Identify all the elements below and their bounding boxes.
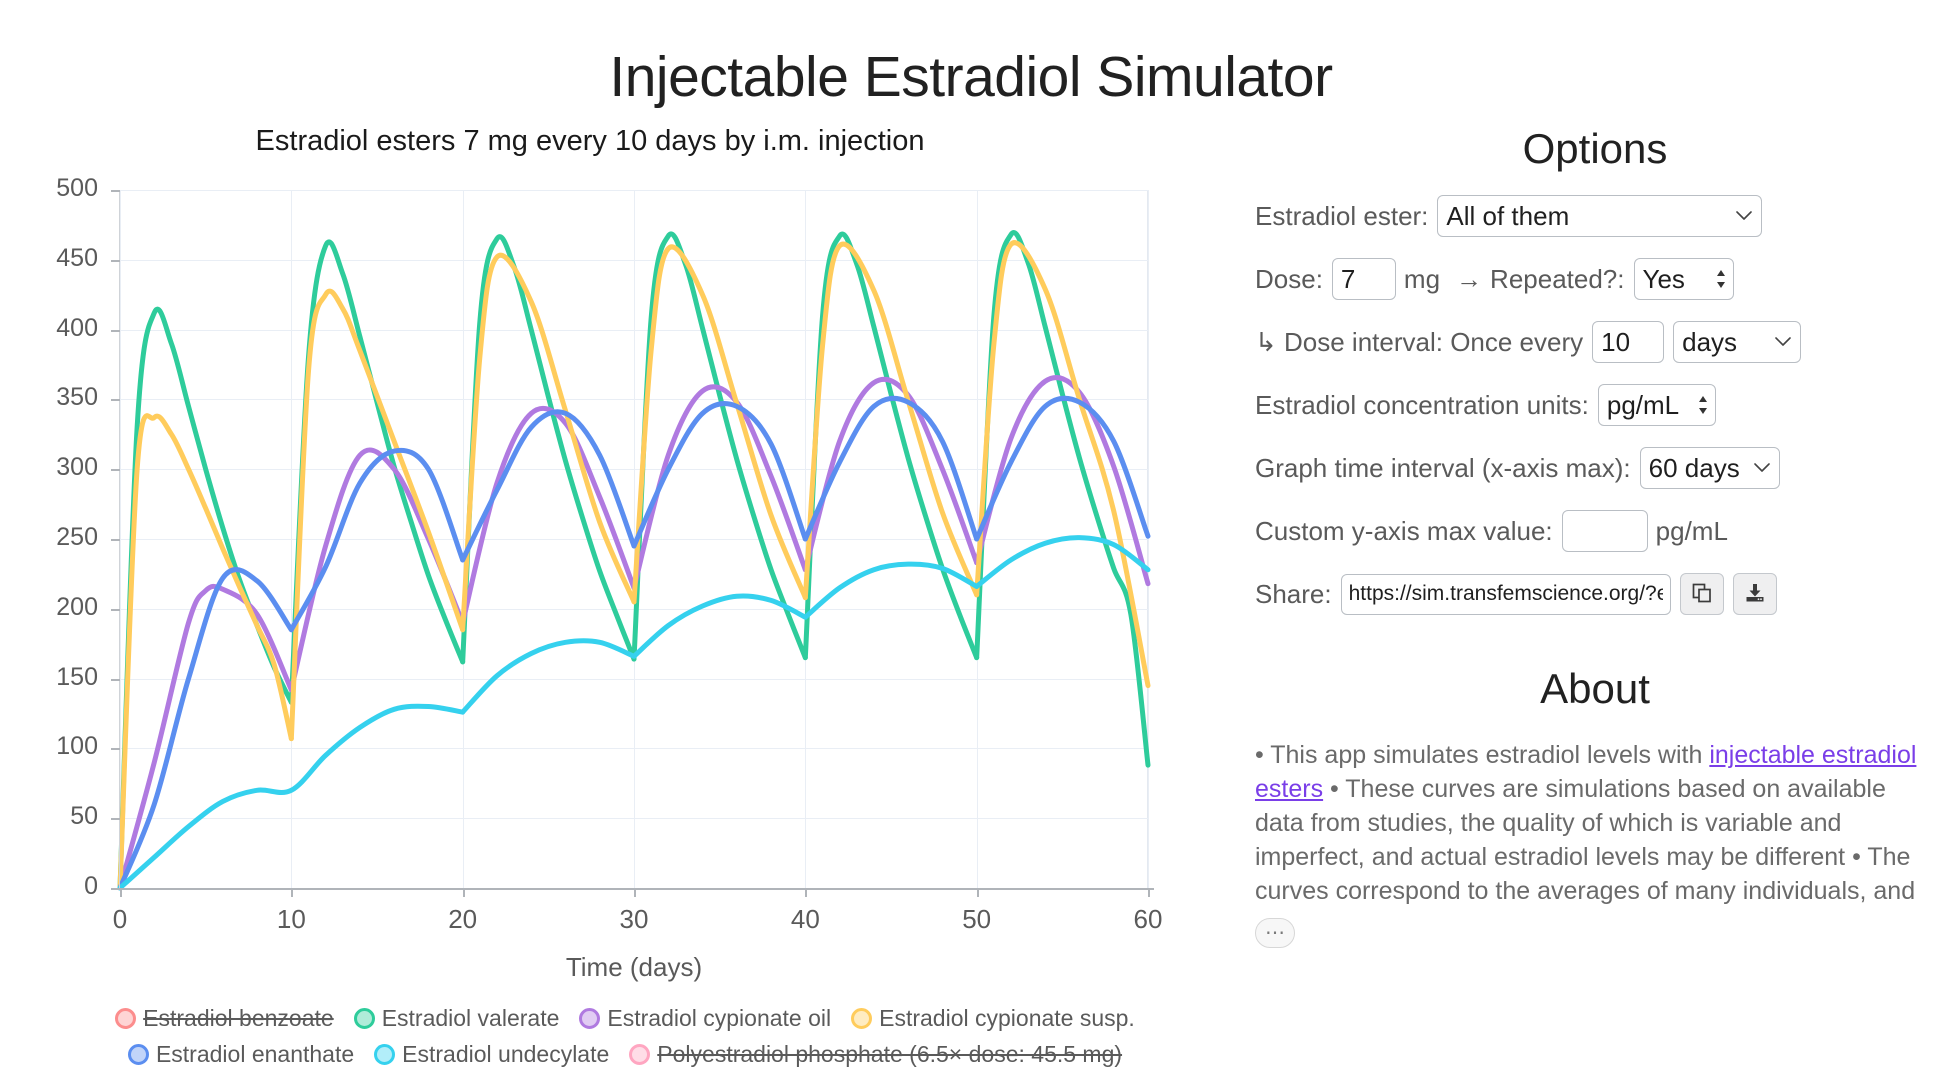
show-more-button[interactable]: ⋯ xyxy=(1255,918,1295,948)
share-label: Share: xyxy=(1255,579,1332,610)
curve-segment xyxy=(120,586,291,888)
legend-marker-icon xyxy=(629,1044,650,1065)
chart-curves xyxy=(120,190,1148,888)
ester-label: Estradiol ester: xyxy=(1255,201,1428,232)
option-row-units: Estradiol concentration units: pg/mL xyxy=(1255,384,1935,426)
y-tick-label: 350 xyxy=(0,383,98,412)
x-axis-title: Time (days) xyxy=(120,952,1148,983)
legend-marker-icon xyxy=(115,1008,136,1029)
plot-area xyxy=(120,190,1148,888)
download-icon xyxy=(1744,582,1766,607)
about-heading: About xyxy=(1255,665,1935,713)
curve-segment xyxy=(463,641,634,712)
legend-item[interactable]: Estradiol cypionate susp. xyxy=(851,1005,1135,1032)
legend-label: Polyestradiol phosphate (6.5× dose: 45.5… xyxy=(657,1041,1122,1068)
dose-interval-label: ↳ Dose interval: Once every xyxy=(1255,327,1583,358)
y-tick-label: 150 xyxy=(0,663,98,692)
custom-ymax-unit-label: pg/mL xyxy=(1656,516,1728,547)
y-tick-label: 100 xyxy=(0,732,98,761)
y-tick-label: 50 xyxy=(0,802,98,831)
legend-item[interactable]: Estradiol undecylate xyxy=(374,1041,609,1068)
y-tick-mark xyxy=(111,469,120,471)
custom-ymax-input[interactable] xyxy=(1562,510,1648,552)
repeated-label: Repeated?: xyxy=(1490,264,1624,295)
legend-label: Estradiol cypionate oil xyxy=(607,1005,831,1032)
dose-label: Dose: xyxy=(1255,264,1323,295)
legend-marker-icon xyxy=(128,1044,149,1065)
legend-marker-icon xyxy=(374,1044,395,1065)
y-tick-mark xyxy=(111,609,120,611)
y-tick-label: 250 xyxy=(0,523,98,552)
y-tick-label: 300 xyxy=(0,453,98,482)
x-tick-label: 30 xyxy=(594,904,674,935)
app-root: Injectable Estradiol Simulator Estradiol… xyxy=(0,0,1942,1085)
y-tick-mark xyxy=(111,888,120,890)
about-text: • This app simulates estradiol levels wi… xyxy=(1255,738,1935,948)
legend-marker-icon xyxy=(579,1008,600,1029)
y-tick-mark xyxy=(111,748,120,750)
x-tick-mark xyxy=(1148,888,1150,897)
legend-label: Estradiol enanthate xyxy=(156,1041,354,1068)
curve-segment xyxy=(463,237,634,662)
dose-unit-label: mg xyxy=(1404,264,1440,295)
legend-label: Estradiol cypionate susp. xyxy=(879,1005,1135,1032)
page-title: Injectable Estradiol Simulator xyxy=(0,44,1942,110)
graph-time-interval-select[interactable]: 60 days xyxy=(1640,447,1780,489)
dose-interval-input[interactable] xyxy=(1592,321,1664,363)
download-icon-button[interactable] xyxy=(1733,573,1777,615)
legend-row: Estradiol enanthateEstradiol undecylateP… xyxy=(90,1036,1160,1072)
y-tick-mark xyxy=(111,679,120,681)
y-tick-mark xyxy=(111,818,120,820)
about-text-part2: • These curves are simulations based on … xyxy=(1255,775,1915,905)
chart-legend: Estradiol benzoateEstradiol valerateEstr… xyxy=(90,1000,1160,1072)
curve-segment xyxy=(634,247,805,602)
graph-time-interval-label: Graph time interval (x-axis max): xyxy=(1255,453,1631,484)
curve-segment xyxy=(120,570,291,888)
option-row-ester: Estradiol ester: All of them xyxy=(1255,195,1935,237)
y-tick-label: 450 xyxy=(0,244,98,273)
y-tick-label: 400 xyxy=(0,314,98,343)
legend-marker-icon xyxy=(354,1008,375,1029)
options-panel: Options Estradiol ester: All of them Dos… xyxy=(1255,125,1935,973)
option-row-ymax: Custom y-axis max value: pg/mL xyxy=(1255,510,1935,552)
y-tick-label: 500 xyxy=(0,174,98,203)
x-axis-line xyxy=(112,888,1154,890)
y-tick-mark xyxy=(111,330,120,332)
curve-segment xyxy=(634,234,805,659)
x-tick-label: 40 xyxy=(765,904,845,935)
option-row-share: Share: xyxy=(1255,573,1935,615)
x-tick-label: 20 xyxy=(423,904,503,935)
share-url-input[interactable] xyxy=(1341,574,1671,615)
x-tick-label: 10 xyxy=(251,904,331,935)
y-tick-mark xyxy=(111,539,120,541)
option-row-dose: Dose: mg → Repeated?: Yes xyxy=(1255,258,1935,300)
dose-input[interactable] xyxy=(1332,258,1396,300)
x-tick-mark xyxy=(977,888,979,897)
curve-segment xyxy=(634,596,805,656)
curve-segment xyxy=(805,244,976,598)
option-row-time-interval: Graph time interval (x-axis max): 60 day… xyxy=(1255,447,1935,489)
legend-label: Estradiol benzoate xyxy=(143,1005,334,1032)
legend-row: Estradiol benzoateEstradiol valerateEstr… xyxy=(90,1000,1160,1036)
x-tick-mark xyxy=(291,888,293,897)
dose-interval-unit-select[interactable]: days xyxy=(1673,321,1801,363)
legend-item[interactable]: Estradiol enanthate xyxy=(128,1041,354,1068)
x-tick-mark xyxy=(634,888,636,897)
copy-icon xyxy=(1691,582,1713,607)
x-tick-label: 50 xyxy=(937,904,1017,935)
legend-item[interactable]: Estradiol valerate xyxy=(354,1005,560,1032)
options-heading: Options xyxy=(1255,125,1935,173)
x-tick-mark xyxy=(463,888,465,897)
gridline-vertical xyxy=(1148,190,1149,888)
arrow-icon: → xyxy=(1456,264,1482,295)
x-tick-mark xyxy=(805,888,807,897)
legend-label: Estradiol undecylate xyxy=(402,1041,609,1068)
chart-title: Estradiol esters 7 mg every 10 days by i… xyxy=(0,125,1180,158)
legend-item[interactable]: Polyestradiol phosphate (6.5× dose: 45.5… xyxy=(629,1041,1122,1068)
legend-item[interactable]: Estradiol cypionate oil xyxy=(579,1005,831,1032)
option-row-dose-interval: ↳ Dose interval: Once every days xyxy=(1255,321,1935,363)
y-tick-label: 0 xyxy=(0,872,98,901)
legend-label: Estradiol valerate xyxy=(382,1005,560,1032)
x-tick-label: 0 xyxy=(80,904,160,935)
x-tick-label: 60 xyxy=(1108,904,1188,935)
concentration-units-label: Estradiol concentration units: xyxy=(1255,390,1589,421)
y-tick-label: 200 xyxy=(0,593,98,622)
legend-item[interactable]: Estradiol benzoate xyxy=(115,1005,334,1032)
x-tick-mark xyxy=(120,888,122,897)
legend-marker-icon xyxy=(851,1008,872,1029)
custom-ymax-label: Custom y-axis max value: xyxy=(1255,516,1553,547)
ester-select[interactable]: All of them xyxy=(1437,195,1762,237)
copy-icon-button[interactable] xyxy=(1680,573,1724,615)
about-text-part1: • This app simulates estradiol levels wi… xyxy=(1255,741,1709,769)
y-tick-mark xyxy=(111,399,120,401)
curve-segment xyxy=(291,291,462,738)
repeated-select[interactable]: Yes xyxy=(1634,258,1734,300)
concentration-units-select[interactable]: pg/mL xyxy=(1598,384,1716,426)
y-tick-mark xyxy=(111,190,120,192)
curve-segment xyxy=(463,255,634,630)
y-tick-mark xyxy=(111,260,120,262)
